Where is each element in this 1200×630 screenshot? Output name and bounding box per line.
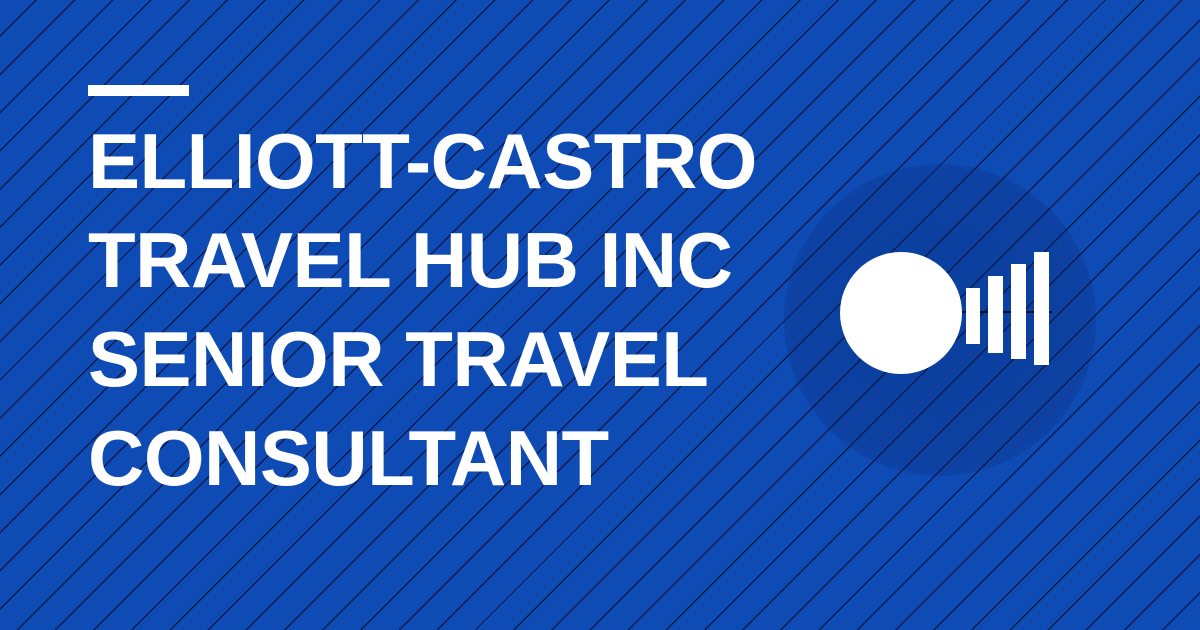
page-title: ELLIOTT-CASTRO TRAVEL HUB INC SENIOR TRA…	[88, 112, 888, 508]
headline-line-1: ELLIOTT-CASTRO	[88, 112, 888, 211]
logo-bar-3	[1011, 264, 1026, 359]
headline-line-4: CONSULTANT	[88, 409, 888, 508]
logo-bar-2	[988, 276, 1003, 353]
social-card: ELLIOTT-CASTRO TRAVEL HUB INC SENIOR TRA…	[0, 0, 1200, 630]
signal-bars-logo-icon	[840, 250, 1052, 376]
logo-bar-1	[966, 288, 980, 344]
accent-dash	[88, 85, 189, 96]
logo-circle-icon	[840, 252, 962, 374]
headline-line-3: SENIOR TRAVEL	[88, 310, 888, 409]
headline-line-2: TRAVEL HUB INC	[88, 211, 888, 310]
logo-bar-4	[1034, 252, 1049, 365]
